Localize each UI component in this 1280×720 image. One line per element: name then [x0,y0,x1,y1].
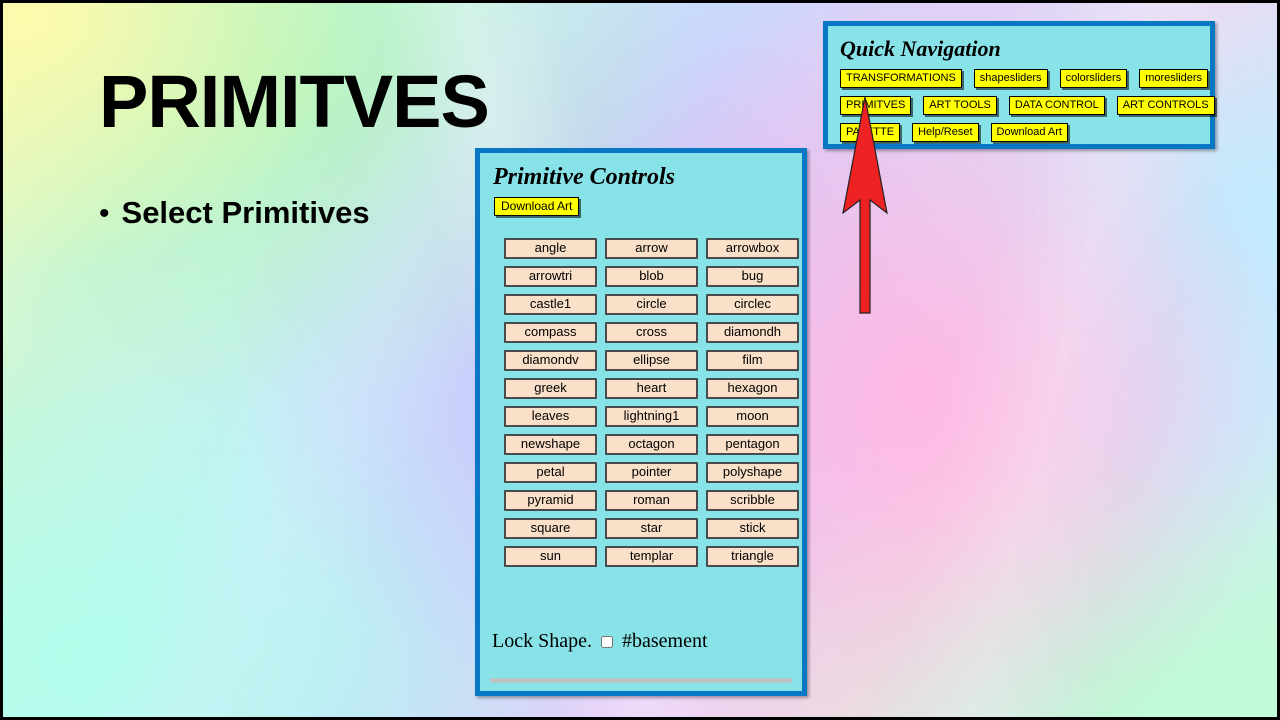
primitive-button-templar[interactable]: templar [605,546,698,567]
nav-button-shapesliders[interactable]: shapesliders [974,69,1048,88]
lock-shape-row: Lock Shape. #basement [492,630,708,653]
quick-nav-row-3: PALETTE Help/Reset Download Art [840,123,1200,142]
primitive-button-heart[interactable]: heart [605,378,698,399]
primitive-button-roman[interactable]: roman [605,490,698,511]
primitive-button-circle[interactable]: circle [605,294,698,315]
primitive-button-circlec[interactable]: circlec [706,294,799,315]
primitive-button-lightning1[interactable]: lightning1 [605,406,698,427]
current-shape-id: #basement [622,630,708,653]
download-art-button[interactable]: Download Art [494,197,579,216]
primitive-button-pyramid[interactable]: pyramid [504,490,597,511]
nav-button-art-controls[interactable]: ART CONTROLS [1117,96,1215,115]
lock-shape-label: Lock Shape. [492,630,592,653]
primitive-button-cross[interactable]: cross [605,322,698,343]
primitive-button-film[interactable]: film [706,350,799,371]
primitive-button-ellipse[interactable]: ellipse [605,350,698,371]
quick-nav-row-2: PRIMITVES ART TOOLS DATA CONTROL ART CON… [840,96,1200,115]
primitive-button-arrowbox[interactable]: arrowbox [706,238,799,259]
nav-button-download-art[interactable]: Download Art [991,123,1068,142]
primitive-button-octagon[interactable]: octagon [605,434,698,455]
primitive-button-diamondv[interactable]: diamondv [504,350,597,371]
nav-button-primitves[interactable]: PRIMITVES [840,96,911,115]
bullet-text: Select Primitives [122,197,370,228]
primitive-button-angle[interactable]: angle [504,238,597,259]
primitive-button-leaves[interactable]: leaves [504,406,597,427]
page-title: PRIMITVES [99,65,489,139]
bullet-marker-icon: • [99,199,110,229]
primitive-button-compass[interactable]: compass [504,322,597,343]
primitive-button-moon[interactable]: moon [706,406,799,427]
horizontal-scrollbar[interactable] [490,678,792,683]
primitive-shape-grid: anglearrowarrowboxarrowtriblobbugcastle1… [492,238,790,567]
primitive-button-bug[interactable]: bug [706,266,799,287]
nav-button-moresliders[interactable]: moresliders [1139,69,1208,88]
primitive-button-pentagon[interactable]: pentagon [706,434,799,455]
primitive-controls-panel: Primitive Controls Download Art anglearr… [475,148,807,696]
nav-button-help-reset[interactable]: Help/Reset [912,123,978,142]
primitive-button-newshape[interactable]: newshape [504,434,597,455]
primitive-button-arrow[interactable]: arrow [605,238,698,259]
quick-navigation-panel: Quick Navigation TRANSFORMATIONS shapesl… [823,21,1215,149]
primitive-button-pointer[interactable]: pointer [605,462,698,483]
nav-button-colorsliders[interactable]: colorsliders [1060,69,1128,88]
primitive-button-triangle[interactable]: triangle [706,546,799,567]
primitive-button-star[interactable]: star [605,518,698,539]
bullet-list-item: • Select Primitives [99,197,370,229]
nav-button-art-tools[interactable]: ART TOOLS [923,96,997,115]
primitive-button-square[interactable]: square [504,518,597,539]
primitive-button-blob[interactable]: blob [605,266,698,287]
nav-button-palette[interactable]: PALETTE [840,123,900,142]
slide-canvas: PRIMITVES • Select Primitives Quick Navi… [0,0,1280,720]
lock-shape-checkbox[interactable] [601,636,613,648]
primitive-button-greek[interactable]: greek [504,378,597,399]
nav-button-data-control[interactable]: DATA CONTROL [1009,96,1105,115]
primitive-controls-title: Primitive Controls [493,164,790,191]
primitive-button-castle1[interactable]: castle1 [504,294,597,315]
primitive-button-polyshape[interactable]: polyshape [706,462,799,483]
primitive-button-arrowtri[interactable]: arrowtri [504,266,597,287]
nav-button-transformations[interactable]: TRANSFORMATIONS [840,69,962,88]
primitive-button-stick[interactable]: stick [706,518,799,539]
primitive-button-scribble[interactable]: scribble [706,490,799,511]
primitive-button-diamondh[interactable]: diamondh [706,322,799,343]
quick-nav-row-1: TRANSFORMATIONS shapesliders colorslider… [840,69,1200,88]
primitive-button-petal[interactable]: petal [504,462,597,483]
primitive-button-hexagon[interactable]: hexagon [706,378,799,399]
quick-navigation-title: Quick Navigation [840,36,1200,62]
primitive-button-sun[interactable]: sun [504,546,597,567]
